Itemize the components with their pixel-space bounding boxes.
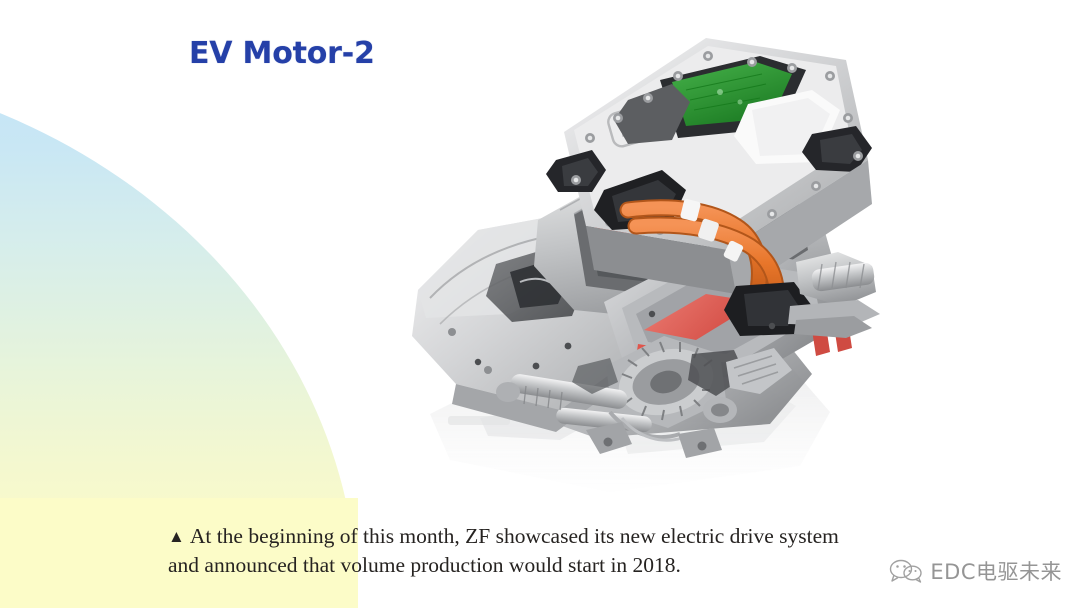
triangle-bullet-icon: ▲ bbox=[168, 527, 185, 546]
caption-line-1-text: At the beginning of this month, ZF showc… bbox=[190, 524, 839, 548]
product-photo-ev-drive-unit: ZF bbox=[360, 14, 930, 514]
watermark: EDC电驱未来 bbox=[889, 556, 1062, 586]
caption-line-1: ▲At the beginning of this month, ZF show… bbox=[168, 522, 908, 551]
page-title: EV Motor-2 bbox=[189, 36, 375, 71]
wechat-icon bbox=[889, 558, 923, 584]
caption-block: ▲At the beginning of this month, ZF show… bbox=[168, 522, 908, 580]
watermark-text: EDC电驱未来 bbox=[930, 556, 1062, 586]
caption-line-2: and announced that volume production wou… bbox=[168, 551, 908, 580]
slide-canvas: EV Motor-2 bbox=[0, 0, 1080, 608]
